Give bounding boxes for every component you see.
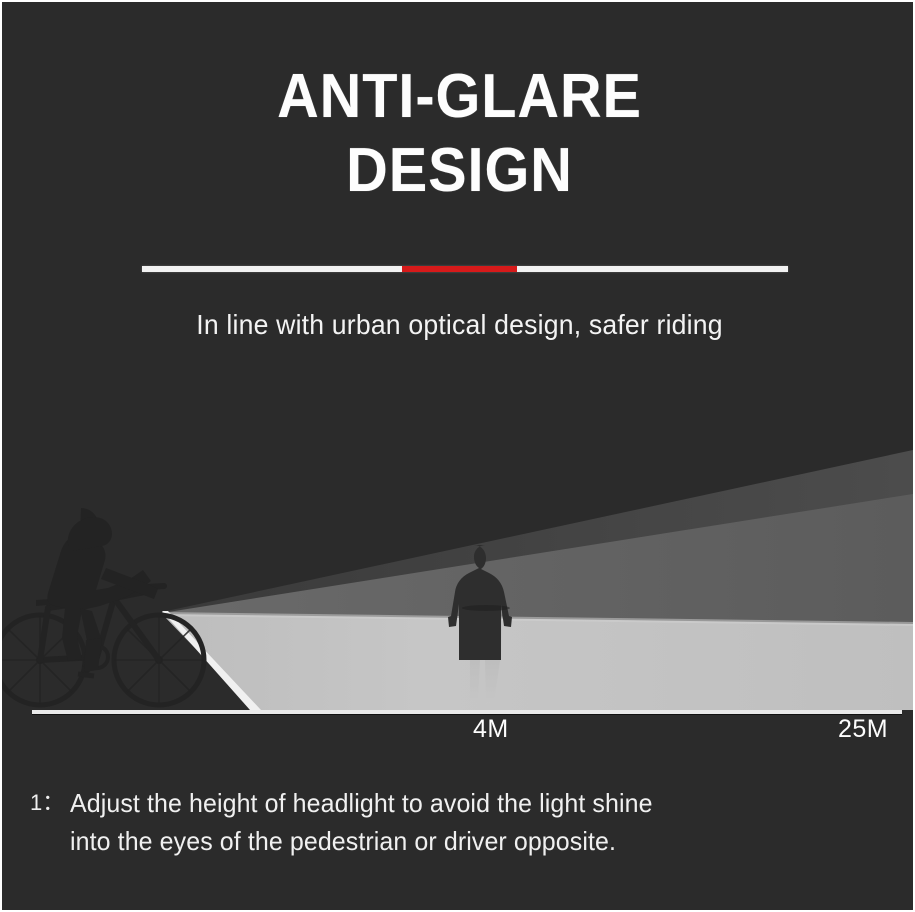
caption-index: 1： [30, 784, 70, 822]
poster-root: ANTI-GLARE DESIGN In line with urban opt… [0, 0, 915, 912]
caption-line-2: into the eyes of the pedestrian or drive… [70, 822, 761, 860]
divider-segment-left [142, 266, 402, 272]
title-line-1: ANTI-GLARE [34, 60, 885, 134]
distance-ruler [32, 710, 902, 714]
divider-accent-segment [402, 266, 517, 272]
divider [142, 266, 788, 272]
divider-segment-right [517, 266, 788, 272]
caption: 1： Adjust the height of headlight to avo… [30, 784, 790, 860]
distance-label-near: 4M [473, 715, 509, 744]
illustration-scene [2, 402, 913, 714]
distance-label-far: 25M [838, 715, 888, 744]
caption-body: Adjust the height of headlight to avoid … [70, 784, 761, 860]
caption-line-1: Adjust the height of headlight to avoid … [70, 788, 653, 818]
title-line-2: DESIGN [34, 134, 885, 208]
page-title: ANTI-GLARE DESIGN [2, 60, 915, 208]
beam-bright-field [162, 614, 913, 710]
subtitle: In line with urban optical design, safer… [25, 309, 894, 341]
